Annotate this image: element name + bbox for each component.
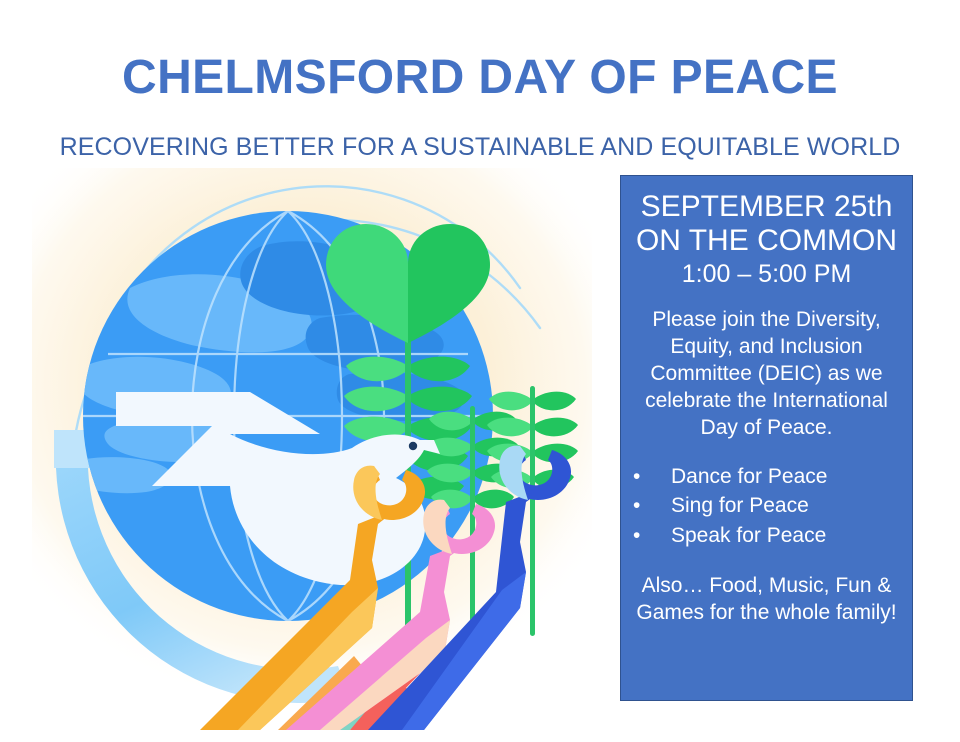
list-item: • Sing for Peace <box>633 491 900 521</box>
bullet-icon: • <box>633 491 640 521</box>
bullet-icon: • <box>633 521 640 551</box>
activity-label: Dance for Peace <box>671 465 827 488</box>
event-location: ON THE COMMON <box>633 224 900 258</box>
event-info-panel: SEPTEMBER 25th ON THE COMMON 1:00 – 5:00… <box>620 175 913 701</box>
activity-label: Sing for Peace <box>671 494 809 517</box>
event-date: SEPTEMBER 25th <box>633 190 900 224</box>
bullet-icon: • <box>633 462 640 492</box>
event-description: Please join the Diversity, Equity, and I… <box>633 307 900 441</box>
page-subtitle: RECOVERING BETTER FOR A SUSTAINABLE AND … <box>0 133 960 162</box>
event-time: 1:00 – 5:00 PM <box>633 259 900 289</box>
page-title: CHELMSFORD DAY OF PEACE <box>0 50 960 105</box>
peace-illustration <box>20 168 620 730</box>
list-item: • Dance for Peace <box>633 462 900 492</box>
activity-list: • Dance for Peace • Sing for Peace • Spe… <box>633 462 900 551</box>
list-item: • Speak for Peace <box>633 521 900 551</box>
event-footer-note: Also… Food, Music, Fun & Games for the w… <box>633 573 900 627</box>
dove-eye <box>409 442 417 450</box>
activity-label: Speak for Peace <box>671 524 826 547</box>
